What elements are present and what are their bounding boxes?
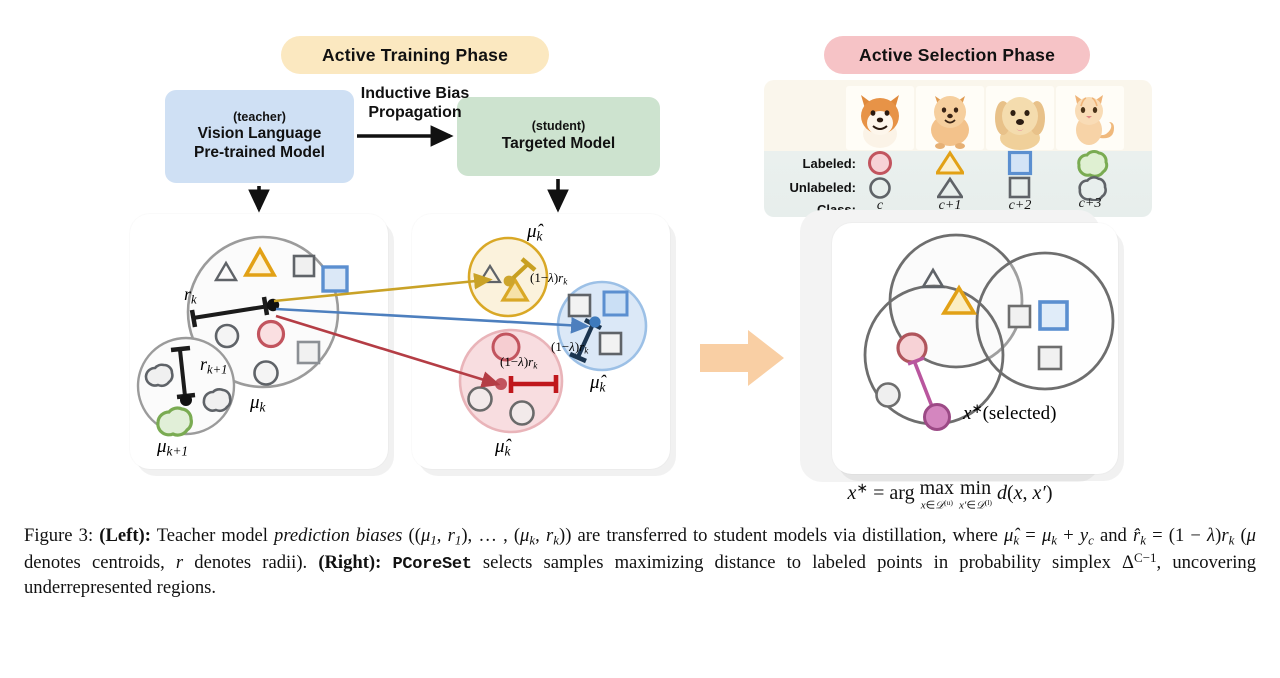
formula-text: x∗ = arg max x∈𝒟(u) min x′∈𝒟(l) d(x, x′) xyxy=(848,482,1053,504)
caption-p1a: Teacher model xyxy=(157,525,274,546)
label-mu-hat-yellow: μ̂k xyxy=(527,221,542,245)
legend-labeled-triangle-icon xyxy=(932,150,968,176)
label-mu-k1: μk+1 xyxy=(157,436,188,460)
legend-unlabeled-square-icon xyxy=(1002,176,1038,200)
caption-prediction-biases: prediction biases xyxy=(274,525,402,546)
legend-row-label-labeled: Labeled: xyxy=(764,156,856,171)
caption-left-tag: (Left): xyxy=(99,525,151,546)
point-square-unlabeled-rp xyxy=(1009,306,1030,327)
centroid-k-dot xyxy=(267,299,279,311)
legend-unlabeled-circle-icon xyxy=(862,176,898,200)
point-square-unlabeled-rp2 xyxy=(1039,347,1061,369)
teacher-embedding-panel: rk rk+1 μk μk+1 xyxy=(130,214,388,469)
centroid-red-dot xyxy=(495,378,507,390)
page-text-bleed xyxy=(24,648,444,674)
label-mu-hat-blue: μ̂k xyxy=(590,372,605,396)
thumbnail-orange-kitten xyxy=(1056,86,1124,150)
point-cloud-labeled xyxy=(158,408,192,435)
point-circle-unlabeled-r xyxy=(469,388,492,411)
label-rk1: rk+1 xyxy=(200,354,227,378)
centroid-k1-dot xyxy=(180,394,192,406)
legend-labeled-circle-icon xyxy=(862,150,898,176)
label-radius-yellow: (1−λ)rk xyxy=(530,270,567,287)
thumbnail-shiba-inu xyxy=(846,86,914,150)
thumbnail-golden-retriever xyxy=(986,86,1054,150)
point-square-labeled-b xyxy=(604,292,627,315)
legend-unlabeled-triangle-icon xyxy=(932,176,968,200)
label-radius-blue: (1−λ)rk xyxy=(551,339,588,356)
left-panel-graphics xyxy=(130,214,388,469)
mid-panel-graphics xyxy=(412,214,670,469)
orange-flow-arrow xyxy=(700,330,786,388)
label-radius-red: (1−λ)rk xyxy=(500,354,537,371)
formula-argmax: max x∈𝒟(u) xyxy=(920,478,954,511)
caption-right-tag: (Right): xyxy=(318,552,381,573)
point-circle-unlabeled xyxy=(216,325,238,347)
right-panel-graphics xyxy=(832,223,1118,474)
label-rk: rk xyxy=(184,284,197,308)
legend-labeled-square-icon xyxy=(1002,150,1038,176)
selected-point-label: x∗(selected) xyxy=(963,401,1056,425)
centroid-blue-dot xyxy=(589,316,600,327)
point-square-labeled-rp xyxy=(1040,302,1067,329)
caption-figure-number: Figure 3: xyxy=(24,525,93,546)
caption-simplex-exponent: C−1 xyxy=(1134,550,1157,565)
point-square-unlabeled-b2 xyxy=(600,333,621,354)
point-circle-unlabeled-2 xyxy=(255,362,278,385)
coreset-objective-formula: x∗ = arg max x∈𝒟(u) min x′∈𝒟(l) d(x, x′) xyxy=(800,478,1100,511)
point-square-labeled xyxy=(323,267,347,291)
formula-argmin: min x′∈𝒟(l) xyxy=(959,478,992,511)
student-embedding-panel: μ̂k (1−λ)rk (1−λ)rk μ̂k (1−λ)rk μ̂k xyxy=(412,214,670,469)
caption-pcoreset: PCoreSet xyxy=(392,555,471,574)
point-cloud-unlabeled-2 xyxy=(204,389,231,411)
figure-caption: Figure 3: (Left): Teacher model predicti… xyxy=(24,524,1256,601)
centroid-yellow-dot xyxy=(504,276,515,287)
label-mu-hat-red: μ̂k xyxy=(495,436,510,460)
point-square-unlabeled xyxy=(294,256,314,276)
figure-canvas: Active Training Phase Active Selection P… xyxy=(0,0,1280,678)
point-circle-labeled xyxy=(259,322,284,347)
point-square-unlabeled-b xyxy=(569,295,590,316)
class-legend-card: Labeled: Unlabeled: Class: xyxy=(764,80,1152,217)
selected-point-marker xyxy=(925,405,950,430)
point-circle-unlabeled-r2 xyxy=(511,402,534,425)
point-square-unlabeled-2 xyxy=(298,342,319,363)
legend-row-label-unlabeled: Unlabeled: xyxy=(764,180,856,195)
label-mu-k: μk xyxy=(250,392,265,416)
thumbnail-pomeranian xyxy=(916,86,984,150)
point-circle-unlabeled-rp xyxy=(877,384,900,407)
coreset-selection-panel: x∗(selected) xyxy=(832,223,1118,474)
